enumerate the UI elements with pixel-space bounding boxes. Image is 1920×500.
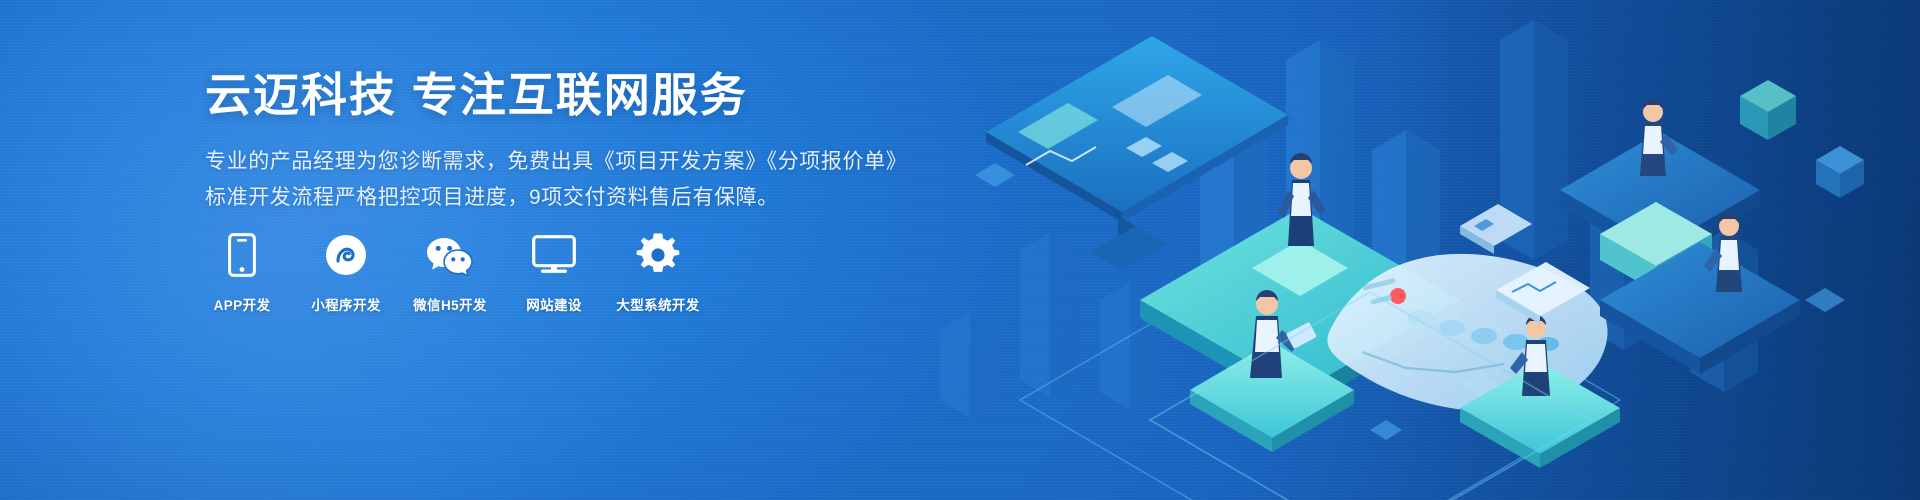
hero-banner: 云迈科技 专注互联网服务 专业的产品经理为您诊断需求，免费出具《项目开发方案》《…	[0, 0, 1920, 500]
monitor-icon	[532, 232, 576, 278]
service-list: APP开发 小程序开发 微信	[205, 232, 695, 314]
service-item-mini-program[interactable]: 小程序开发	[309, 232, 383, 314]
service-label: 小程序开发	[311, 294, 381, 314]
service-item-wechat-h5[interactable]: 微信H5开发	[413, 232, 487, 314]
hero-subtitle: 专业的产品经理为您诊断需求，免费出具《项目开发方案》《分项报价单》 标准开发流程…	[205, 144, 925, 216]
mobile-phone-icon	[228, 232, 256, 278]
gear-icon	[636, 232, 680, 278]
service-item-app[interactable]: APP开发	[205, 232, 279, 314]
service-label: 网站建设	[526, 294, 582, 314]
service-item-large-system[interactable]: 大型系统开发	[621, 232, 695, 314]
service-label: 微信H5开发	[413, 294, 487, 314]
service-label: 大型系统开发	[616, 294, 699, 314]
mini-program-icon	[325, 232, 367, 278]
subtitle-line-2: 标准开发流程严格把控项目进度，9项交付资料售后有保障。	[205, 180, 925, 216]
service-label: APP开发	[214, 294, 271, 314]
page-title: 云迈科技 专注互联网服务	[205, 68, 925, 122]
wechat-icon	[426, 232, 474, 278]
isometric-illustration	[900, 0, 1920, 500]
hero-text-block: 云迈科技 专注互联网服务 专业的产品经理为您诊断需求，免费出具《项目开发方案》《…	[205, 68, 925, 216]
subtitle-line-1: 专业的产品经理为您诊断需求，免费出具《项目开发方案》《分项报价单》	[205, 144, 925, 180]
service-item-website[interactable]: 网站建设	[517, 232, 591, 314]
